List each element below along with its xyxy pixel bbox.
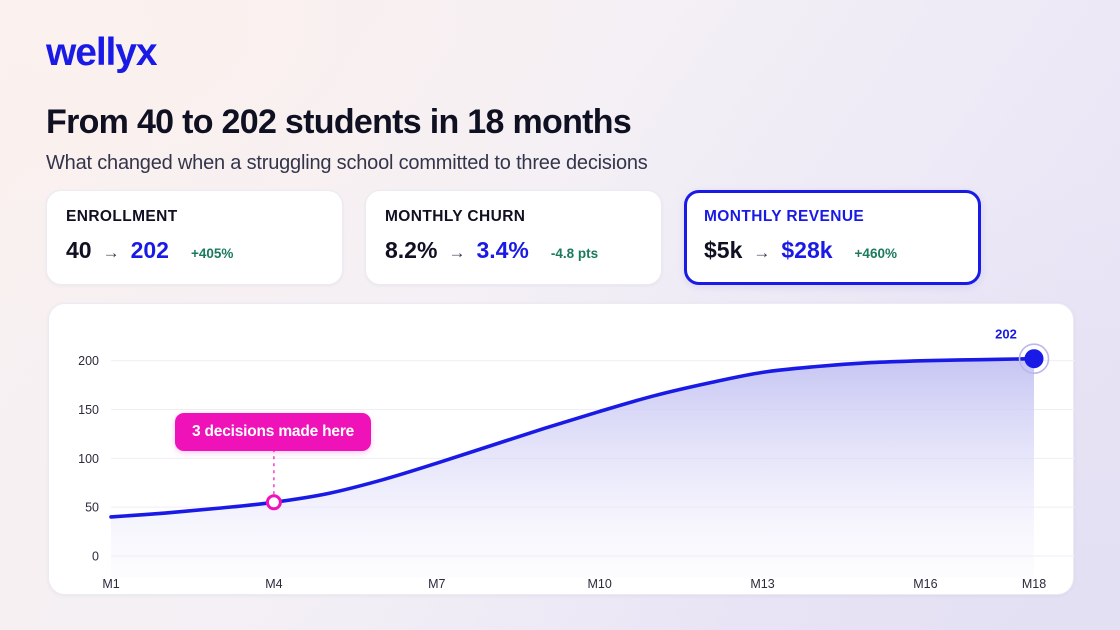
arrow-icon: →: [753, 243, 770, 263]
stat-card-label: ENROLLMENT: [66, 208, 342, 226]
stat-card-label: MONTHLY REVENUE: [704, 208, 978, 226]
stat-card-label: MONTHLY CHURN: [385, 208, 661, 226]
slide-canvas: wellyx From 40 to 202 students in 18 mon…: [0, 0, 1120, 630]
chart-y-axis: 050100150200: [78, 354, 99, 563]
svg-text:M1: M1: [102, 577, 119, 591]
page-subtitle: What changed when a struggling school co…: [46, 152, 648, 175]
stat-card-values: $5k → $28k +460%: [704, 237, 978, 264]
svg-text:202: 202: [995, 327, 1017, 342]
stat-card-enrollment: ENROLLMENT 40 → 202 +405%: [46, 190, 343, 285]
svg-text:100: 100: [78, 452, 99, 466]
stat-card-monthly-churn: MONTHLY CHURN 8.2% → 3.4% -4.8 pts: [365, 190, 662, 285]
stat-card-group: ENROLLMENT 40 → 202 +405% MONTHLY CHURN …: [46, 190, 981, 285]
svg-text:M18: M18: [1022, 577, 1046, 591]
stat-card-values: 40 → 202 +405%: [66, 237, 342, 264]
stat-value-from: 8.2%: [385, 237, 437, 264]
arrow-icon: →: [448, 243, 465, 263]
stat-delta-badge: +460%: [855, 246, 897, 261]
stat-card-monthly-revenue: MONTHLY REVENUE $5k → $28k +460%: [684, 190, 981, 285]
stat-value-to: 3.4%: [476, 237, 528, 264]
brand-logo: wellyx: [46, 31, 156, 75]
svg-text:150: 150: [78, 403, 99, 417]
svg-text:0: 0: [92, 550, 99, 564]
svg-text:M4: M4: [265, 577, 282, 591]
svg-text:50: 50: [85, 501, 99, 515]
stat-delta-badge: -4.8 pts: [551, 246, 598, 261]
chart-annotation-badge: 3 decisions made here: [175, 413, 371, 451]
stat-delta-badge: +405%: [191, 246, 233, 261]
stat-value-to: $28k: [781, 237, 832, 264]
arrow-icon: →: [103, 243, 120, 263]
stat-card-values: 8.2% → 3.4% -4.8 pts: [385, 237, 661, 264]
svg-text:200: 200: [78, 354, 99, 368]
chart-area-fill: [111, 359, 1034, 578]
page-title: From 40 to 202 students in 18 months: [46, 103, 631, 142]
stat-value-to: 202: [131, 237, 169, 264]
chart-x-axis: M1M4M7M10M13M16M18: [102, 577, 1046, 591]
stat-value-from: $5k: [704, 237, 742, 264]
svg-text:M7: M7: [428, 577, 445, 591]
stat-value-from: 40: [66, 237, 92, 264]
svg-text:M10: M10: [587, 577, 611, 591]
svg-text:M13: M13: [750, 577, 774, 591]
svg-text:M16: M16: [913, 577, 937, 591]
